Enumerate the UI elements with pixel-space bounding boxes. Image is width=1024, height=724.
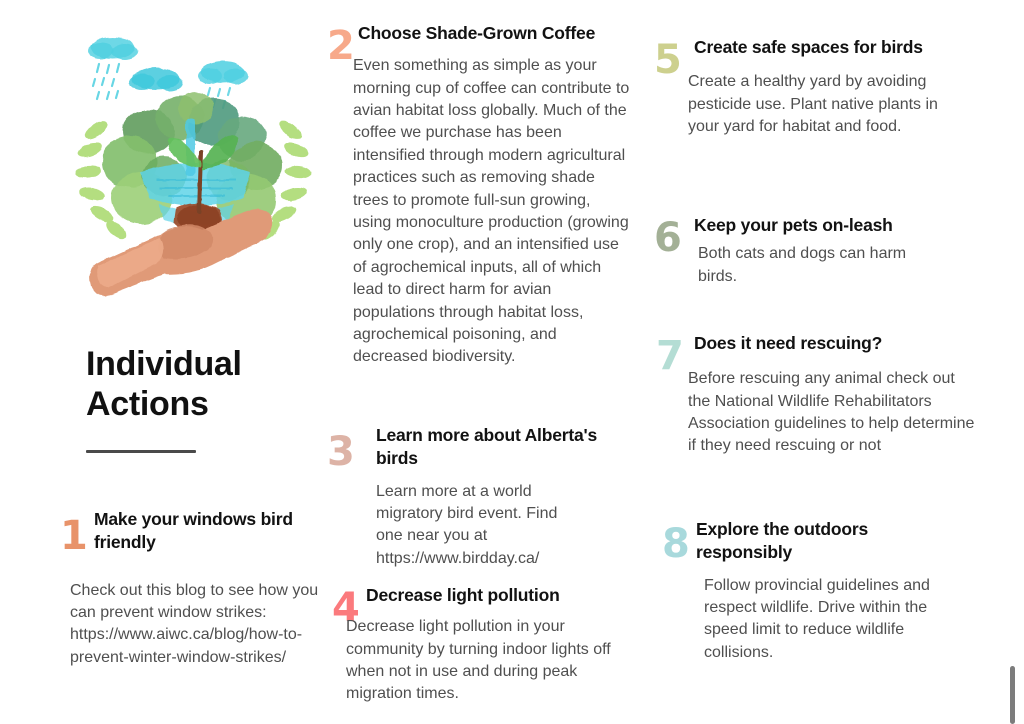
page-title-block: Individual Actions <box>86 344 326 453</box>
item-body: Learn more about Alberta's birds Learn m… <box>376 424 640 570</box>
item-text: Check out this blog to see how you can p… <box>70 580 335 670</box>
item-heading: Choose Shade-Grown Coffee <box>358 22 638 45</box>
item-text: Decrease light pollution in your communi… <box>346 616 614 706</box>
vertical-scrollbar-thumb[interactable] <box>1010 666 1015 724</box>
item-text: Before rescuing any animal check out the… <box>688 368 978 458</box>
item-heading: Learn more about Alberta's birds <box>376 424 640 471</box>
rain-cloud-icon <box>198 61 248 84</box>
item-body: Does it need rescuing? Before rescuing a… <box>694 332 980 458</box>
vertical-scrollbar-track[interactable] <box>1008 0 1016 724</box>
item-heading: Decrease light pollution <box>366 584 642 607</box>
item-number: 2 <box>327 26 354 66</box>
item-text: Create a healthy yard by avoiding pestic… <box>688 71 938 138</box>
page-title-line-1: Individual <box>86 345 242 383</box>
hand-holding-seedling-illustration <box>68 22 318 318</box>
item-heading: Does it need rescuing? <box>694 332 980 355</box>
raindrops-icon <box>93 64 119 99</box>
item-number: 7 <box>656 336 683 376</box>
item-body: Make your windows bird friendly Check ou… <box>94 508 342 669</box>
item-text: Both cats and dogs can harm birds. <box>698 243 918 288</box>
item-number: 1 <box>60 516 87 556</box>
item-body: Decrease light pollution Decrease light … <box>366 584 642 706</box>
infographic-page: Individual Actions 1 Make your windows b… <box>0 0 1024 724</box>
item-body: Create safe spaces for birds Create a he… <box>694 36 968 138</box>
item-heading: Make your windows bird friendly <box>94 508 342 555</box>
title-divider <box>86 450 196 453</box>
item-text: Learn more at a world migratory bird eve… <box>376 481 576 571</box>
page-title: Individual Actions <box>86 344 326 424</box>
item-body: Keep your pets on-leash Both cats and do… <box>694 214 968 288</box>
item-text: Follow provincial guidelines and respect… <box>704 575 944 665</box>
rain-cloud-icon <box>129 68 183 91</box>
item-text: Even something as simple as your morning… <box>353 55 631 368</box>
page-title-line-2: Actions <box>86 385 209 423</box>
item-number: 3 <box>327 432 354 472</box>
item-number: 6 <box>654 218 681 258</box>
item-heading: Explore the outdoors responsibly <box>696 518 968 565</box>
item-number: 8 <box>662 524 689 564</box>
rain-cloud-icon <box>88 37 138 60</box>
item-body: Explore the outdoors responsibly Follow … <box>696 518 968 664</box>
item-heading: Create safe spaces for birds <box>694 36 968 59</box>
item-number: 5 <box>654 40 681 80</box>
item-body: Choose Shade-Grown Coffee Even something… <box>358 22 638 369</box>
item-heading: Keep your pets on-leash <box>694 214 968 237</box>
